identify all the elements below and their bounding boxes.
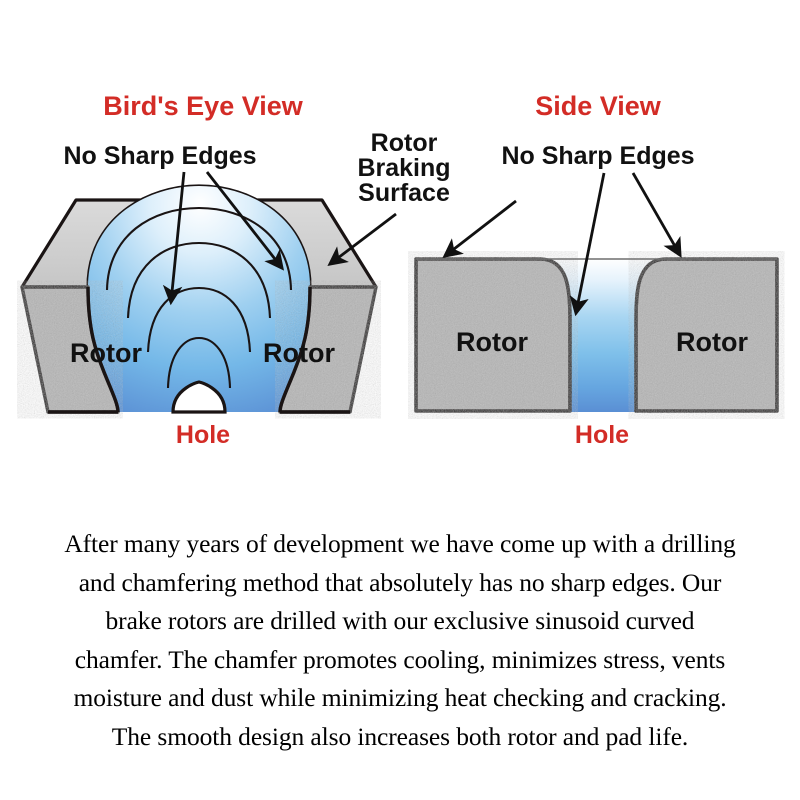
bird-eye-view-title: Bird's Eye View — [103, 91, 304, 121]
arrow-braking-surface-side — [445, 201, 516, 256]
diagram-page: Rotor Rotor Bird's Eye View No Sharp Edg… — [0, 0, 800, 800]
caption-line: The smooth design also increases both ro… — [0, 718, 800, 757]
hole-label-left: Hole — [176, 421, 230, 449]
rotor-label-right: Rotor — [263, 338, 335, 368]
side-view-group: Rotor Rotor Side View No Sharp Edges Hol… — [415, 91, 778, 449]
rotor-label-left: Rotor — [70, 338, 142, 368]
caption-line: After many years of development we have … — [0, 525, 800, 564]
arrow-no-sharp-edges-right-outer — [633, 173, 680, 255]
braking-surface-label-line2: Braking — [357, 154, 450, 182]
hole-label-right: Hole — [575, 421, 629, 449]
no-sharp-edges-label-right: No Sharp Edges — [501, 142, 694, 170]
no-sharp-edges-label-left: No Sharp Edges — [63, 142, 256, 170]
caption-line: and chamfering method that absolutely ha… — [0, 564, 800, 603]
description-paragraph: After many years of development we have … — [0, 525, 800, 756]
caption-line: chamfer. The chamfer promotes cooling, m… — [0, 641, 800, 680]
braking-surface-label-line3: Surface — [358, 179, 450, 207]
side-view-title: Side View — [535, 91, 662, 121]
caption-line: brake rotors are drilled with our exclus… — [0, 602, 800, 641]
braking-surface-label-line1: Rotor — [371, 129, 438, 157]
side-rotor-label-right: Rotor — [676, 327, 748, 357]
caption-line: moisture and dust while minimizing heat … — [0, 679, 800, 718]
bird-eye-view-group: Rotor Rotor Bird's Eye View No Sharp Edg… — [22, 91, 451, 449]
side-rotor-label-left: Rotor — [456, 327, 528, 357]
